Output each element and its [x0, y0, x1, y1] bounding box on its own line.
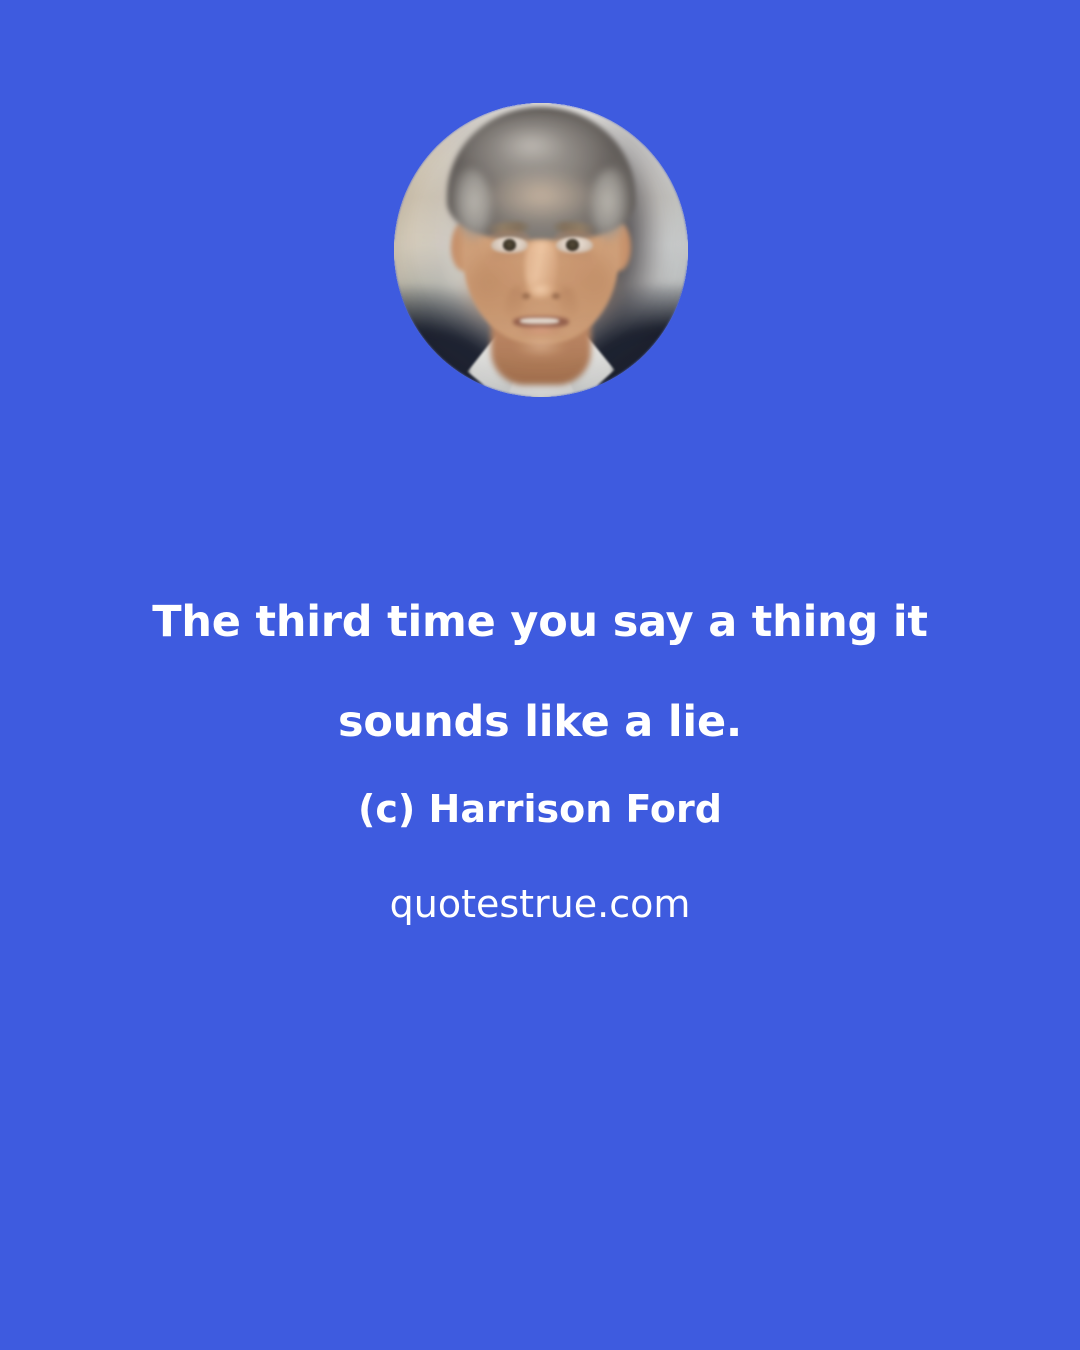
- author-name: (c) Harrison Ford: [60, 784, 1020, 834]
- portrait-vignette: [394, 103, 688, 397]
- author-portrait-photo: [394, 103, 688, 397]
- quote-text: The third time you say a thing it sounds…: [60, 572, 1020, 772]
- site-credit: quotestrue.com: [60, 879, 1020, 929]
- quote-card: The third time you say a thing it sounds…: [0, 0, 1080, 1350]
